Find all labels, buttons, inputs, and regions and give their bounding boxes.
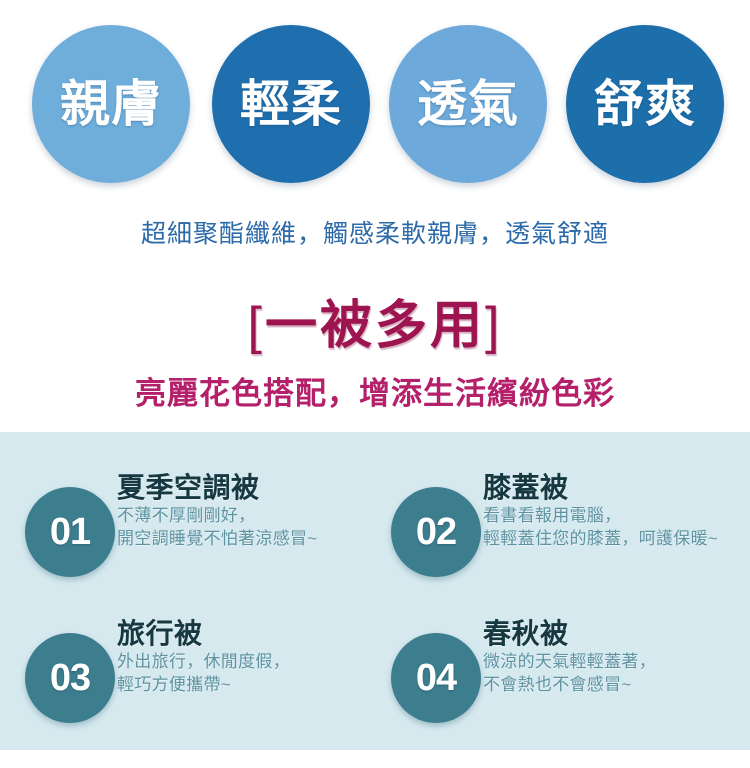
usage-description: 外出旅行，休閒度假， 輕巧方便攜帶~ xyxy=(117,651,375,697)
usage-number-label: 01 xyxy=(50,513,90,551)
usage-title: 旅行被 xyxy=(117,618,375,649)
usage-number-badge: 04 xyxy=(391,633,481,723)
usage-item-01: 01 夏季空調被 不薄不厚剛剛好， 開空調睡覺不怕著涼感冒~ xyxy=(0,472,375,622)
usage-description-line-2: 開空調睡覺不怕著涼感冒~ xyxy=(117,528,375,551)
feature-bubble-label: 親膚 xyxy=(60,79,162,129)
usage-number-badge: 03 xyxy=(25,633,115,723)
usage-text-block: 夏季空調被 不薄不厚剛剛好， 開空調睡覺不怕著涼感冒~ xyxy=(117,472,375,551)
usage-description-line-2: 輕輕蓋住您的膝蓋，呵護保暖~ xyxy=(483,528,741,551)
usage-text-block: 膝蓋被 看書看報用電腦， 輕輕蓋住您的膝蓋，呵護保暖~ xyxy=(483,472,741,551)
feature-bubble-qinfu: 親膚 xyxy=(32,25,190,183)
feature-bubble-label: 舒爽 xyxy=(594,79,696,129)
usage-number-badge: 02 xyxy=(391,487,481,577)
usage-description-line-1: 外出旅行，休閒度假， xyxy=(117,651,375,674)
usage-description-line-1: 看書看報用電腦， xyxy=(483,505,741,528)
usage-description-line-2: 不會熱也不會感冒~ xyxy=(483,674,741,697)
usage-title: 春秋被 xyxy=(483,618,741,649)
feature-bubble-touqi: 透氣 xyxy=(389,25,547,183)
usage-item-04: 04 春秋被 微涼的天氣輕輕蓋著， 不會熱也不會感冒~ xyxy=(366,618,741,768)
usage-description: 不薄不厚剛剛好， 開空調睡覺不怕著涼感冒~ xyxy=(117,505,375,551)
feature-bubble-label: 輕柔 xyxy=(240,79,342,129)
usage-number-label: 03 xyxy=(50,659,90,697)
usage-number-badge: 01 xyxy=(25,487,115,577)
usage-description-line-1: 微涼的天氣輕輕蓋著， xyxy=(483,651,741,674)
usage-item-02: 02 膝蓋被 看書看報用電腦， 輕輕蓋住您的膝蓋，呵護保暖~ xyxy=(366,472,741,622)
feature-bubble-qingrou: 輕柔 xyxy=(212,25,370,183)
usage-description: 看書看報用電腦， 輕輕蓋住您的膝蓋，呵護保暖~ xyxy=(483,505,741,551)
usage-item-03: 03 旅行被 外出旅行，休閒度假， 輕巧方便攜帶~ xyxy=(0,618,375,768)
headline-open-bracket: [ xyxy=(248,297,265,355)
headline-main-text: 一被多用 xyxy=(265,297,485,355)
usage-description: 微涼的天氣輕輕蓋著， 不會熱也不會感冒~ xyxy=(483,651,741,697)
feature-bubble-row: 親膚 輕柔 透氣 舒爽 xyxy=(0,25,750,185)
usage-number-label: 04 xyxy=(416,659,456,697)
usage-title: 夏季空調被 xyxy=(117,472,375,503)
usage-description-line-2: 輕巧方便攜帶~ xyxy=(117,674,375,697)
color-variety-subline: 亮麗花色搭配，增添生活繽紛色彩 xyxy=(0,368,750,413)
product-feature-banner: 親膚 輕柔 透氣 舒爽 超細聚酯纖維，觸感柔軟親膚，透氣舒適 [一被多用] 亮麗… xyxy=(0,0,750,750)
headline-close-bracket: ] xyxy=(485,297,502,355)
usage-text-block: 春秋被 微涼的天氣輕輕蓋著， 不會熱也不會感冒~ xyxy=(483,618,741,697)
feature-bubble-label: 透氣 xyxy=(417,79,519,129)
usage-scenarios-panel: 01 夏季空調被 不薄不厚剛剛好， 開空調睡覺不怕著涼感冒~ 02 膝蓋被 看書… xyxy=(0,432,750,750)
usage-number-label: 02 xyxy=(416,513,456,551)
material-tagline: 超細聚酯纖維，觸感柔軟親膚，透氣舒適 xyxy=(0,214,750,250)
usage-title: 膝蓋被 xyxy=(483,472,741,503)
feature-bubble-shushuang: 舒爽 xyxy=(566,25,724,183)
usage-text-block: 旅行被 外出旅行，休閒度假， 輕巧方便攜帶~ xyxy=(117,618,375,697)
headline-one-quilt-many-uses: [一被多用] xyxy=(0,283,750,358)
usage-description-line-1: 不薄不厚剛剛好， xyxy=(117,505,375,528)
